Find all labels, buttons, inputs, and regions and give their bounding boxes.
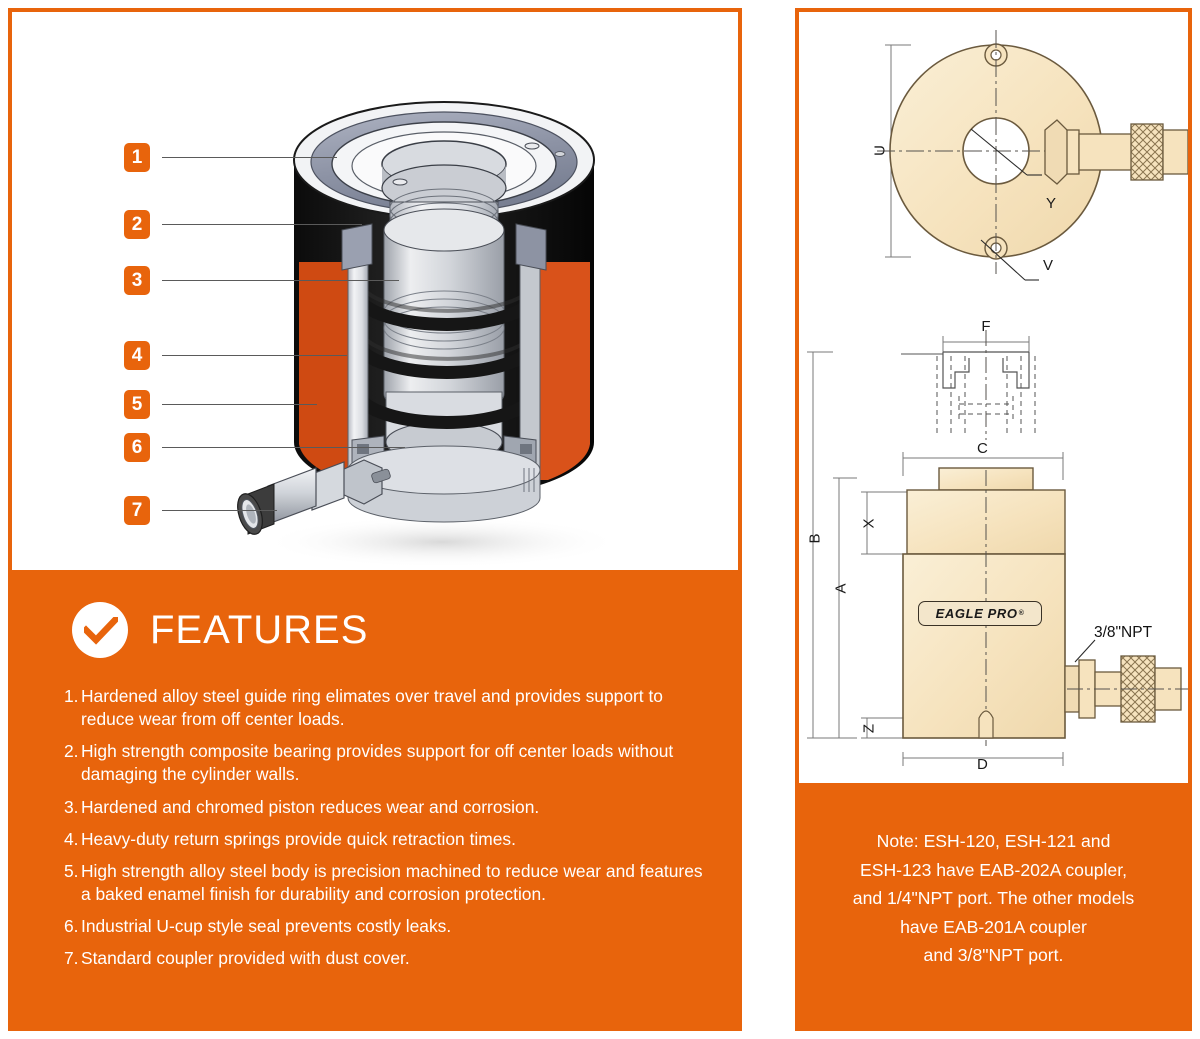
feature-number: 4. <box>64 828 81 851</box>
feature-item: 4. Heavy-duty return springs provide qui… <box>64 828 714 851</box>
feature-text: Standard coupler provided with dust cove… <box>81 947 714 970</box>
feature-item: 5. High strength alloy steel body is pre… <box>64 860 714 906</box>
dim-label-F: F <box>978 318 994 335</box>
side-view-svg <box>799 310 1188 780</box>
right-panel: U Y V <box>795 8 1192 1031</box>
features-header: FEATURES <box>72 602 368 658</box>
note-line: Note: ESH-120, ESH-121 and <box>813 827 1174 856</box>
dim-label-C: C <box>977 440 988 457</box>
callout-line-1 <box>162 157 337 158</box>
note-line: and 1/4"NPT port. The other models <box>813 884 1174 913</box>
dim-label-B: B <box>807 531 824 547</box>
technical-drawings-area: U Y V <box>799 12 1188 783</box>
callout-line-4 <box>162 355 347 356</box>
callout-badge-4[interactable]: 4 <box>124 341 150 370</box>
dim-A <box>833 478 857 738</box>
feature-text: Hardened and chromed piston reduces wear… <box>81 796 714 819</box>
dim-label-Z: Z <box>861 721 878 737</box>
side-coupler <box>1065 656 1188 722</box>
features-block: FEATURES 1. Hardened alloy steel guide r… <box>12 570 738 1031</box>
callout-badge-6[interactable]: 6 <box>124 433 150 462</box>
dim-label-V: V <box>1043 257 1053 274</box>
callout-line-3 <box>162 280 399 281</box>
feature-number: 7. <box>64 947 81 970</box>
feature-number: 6. <box>64 915 81 938</box>
note-line: have EAB-201A coupler <box>813 913 1174 942</box>
eagle-pro-logo: EAGLE PRO ® <box>918 601 1042 626</box>
feature-number: 3. <box>64 796 81 819</box>
registered-mark: ® <box>1019 610 1025 617</box>
callout-line-6 <box>162 447 405 448</box>
features-list: 1. Hardened alloy steel guide ring elima… <box>64 685 714 979</box>
callout-badge-1[interactable]: 1 <box>124 143 150 172</box>
dim-label-U: U <box>872 142 889 160</box>
callout-line-7 <box>162 510 277 511</box>
feature-text: Heavy-duty return springs provide quick … <box>81 828 714 851</box>
npt-port-label: 3/8"NPT <box>1094 624 1152 642</box>
note-text: Note: ESH-120, ESH-121 and ESH-123 have … <box>813 827 1174 970</box>
left-panel: 1 2 3 4 5 6 7 FEATURES <box>8 8 742 1031</box>
callout-line-2 <box>162 224 362 225</box>
top-detail <box>901 352 1035 436</box>
features-title: FEATURES <box>150 608 368 653</box>
callout-badge-7[interactable]: 7 <box>124 496 150 525</box>
feature-text: High strength alloy steel body is precis… <box>81 860 714 906</box>
feature-number: 2. <box>64 740 81 763</box>
top-view-coupler <box>1045 120 1188 184</box>
dim-label-A: A <box>833 581 850 597</box>
callout-badge-5[interactable]: 5 <box>124 390 150 419</box>
feature-item: 1. Hardened alloy steel guide ring elima… <box>64 685 714 731</box>
feature-number: 5. <box>64 860 81 883</box>
top-view-svg <box>799 12 1188 292</box>
feature-text: Hardened alloy steel guide ring elimates… <box>81 685 714 731</box>
feature-item: 6. Industrial U-cup style seal prevents … <box>64 915 714 938</box>
note-line: ESH-123 have EAB-202A coupler, <box>813 856 1174 885</box>
dim-label-X: X <box>861 516 878 532</box>
feature-item: 7. Standard coupler provided with dust c… <box>64 947 714 970</box>
checkmark-glyph <box>84 617 118 645</box>
cylinder-cutaway-svg <box>12 12 738 570</box>
datasheet-page: 1 2 3 4 5 6 7 FEATURES <box>0 0 1200 1039</box>
callout-line-5 <box>162 404 317 405</box>
dim-label-D: D <box>977 756 988 773</box>
dim-label-Y: Y <box>1046 195 1056 212</box>
feature-text: Industrial U-cup style seal prevents cos… <box>81 915 714 938</box>
callout-badge-3[interactable]: 3 <box>124 266 150 295</box>
note-block: Note: ESH-120, ESH-121 and ESH-123 have … <box>799 783 1188 1031</box>
note-line: and 3/8"NPT port. <box>813 941 1174 970</box>
feature-item: 2. High strength composite bearing provi… <box>64 740 714 786</box>
cutaway-illustration-area: 1 2 3 4 5 6 7 <box>12 12 738 570</box>
check-circle-icon <box>72 602 128 658</box>
feature-item: 3. Hardened and chromed piston reduces w… <box>64 796 714 819</box>
feature-text: High strength composite bearing provides… <box>81 740 714 786</box>
eagle-pro-logo-text: EAGLE PRO <box>936 606 1018 621</box>
feature-number: 1. <box>64 685 81 708</box>
callout-badge-2[interactable]: 2 <box>124 210 150 239</box>
